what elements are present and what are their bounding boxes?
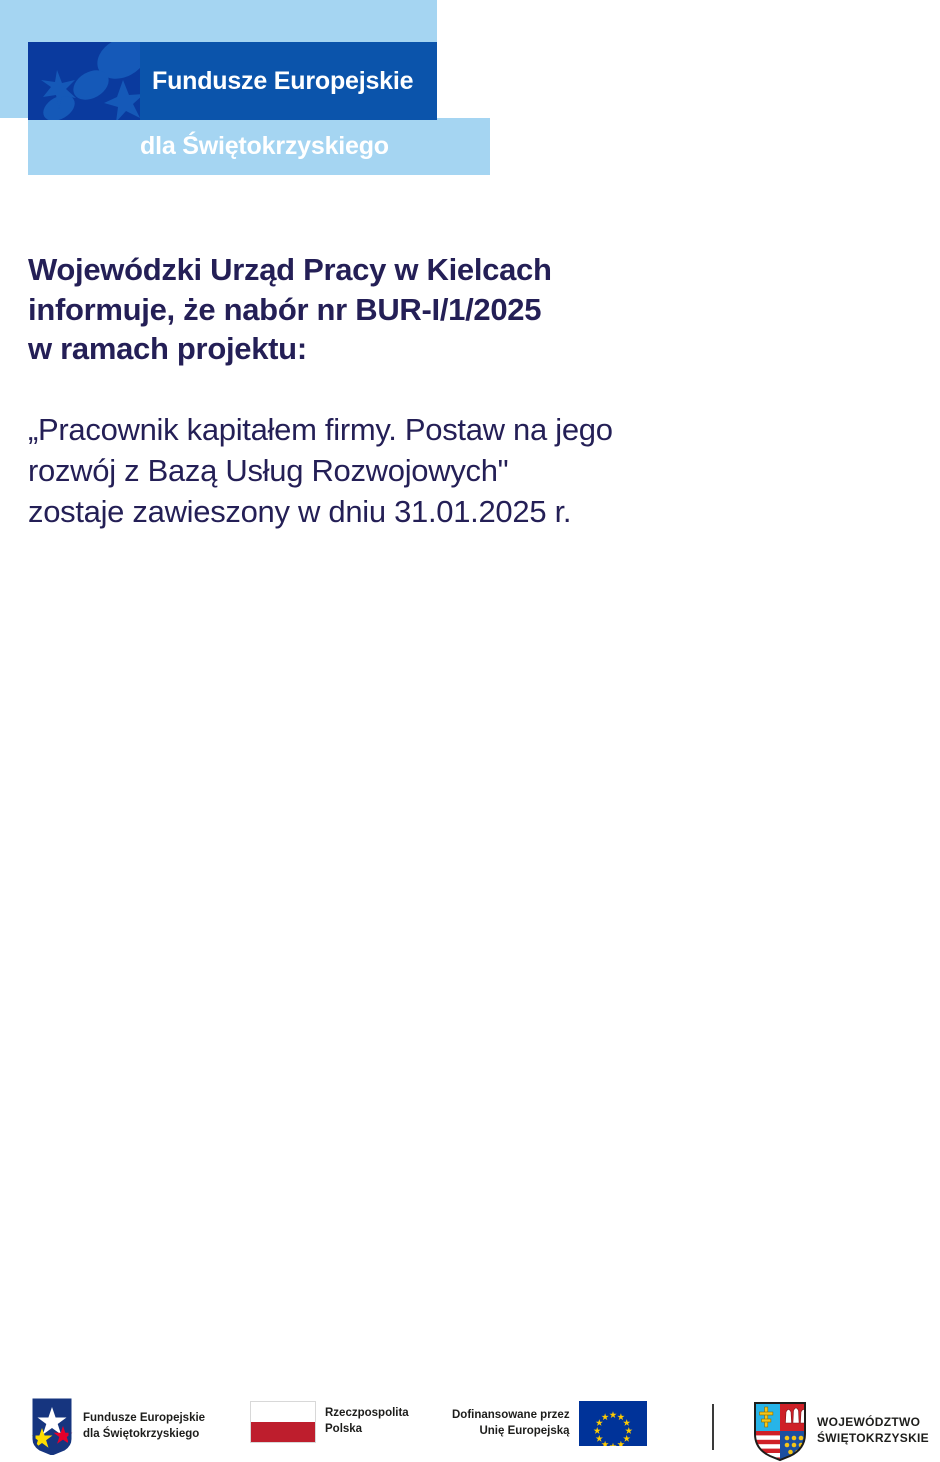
announcement-headline: Wojewódzki Urząd Pracy w Kielcach inform…	[28, 250, 888, 369]
footer-logo-label: Fundusze Europejskie dla Świętokrzyskieg…	[83, 1411, 205, 1442]
eu-funds-tricolor-stars-icon	[30, 1398, 74, 1455]
header-logo-block: Fundusze Europejskie dla Świętokrzyskieg…	[0, 0, 490, 175]
footer-logo-fundusze-europejskie: Fundusze Europejskie dla Świętokrzyskieg…	[30, 1398, 205, 1455]
header-title-plate: Fundusze Europejskie	[140, 42, 437, 120]
announcement-body: „Pracownik kapitałem firmy. Postaw na je…	[28, 369, 888, 533]
footer-logo-label: Rzeczpospolita Polska	[325, 1406, 409, 1437]
footer-logo-wojewodztwo-swietokrzyskie: WOJEWÓDZTWO ŚWIĘTOKRZYSKIE	[752, 1400, 929, 1462]
eu-funds-stars-emblem-icon	[28, 42, 140, 120]
footer-logo-label: WOJEWÓDZTWO ŚWIĘTOKRZYSKIE	[817, 1415, 929, 1446]
swietokrzyskie-coat-of-arms-icon	[752, 1400, 808, 1462]
poland-flag-red-stripe	[251, 1422, 315, 1442]
footer-logo-unia-europejska: Dofinansowane przez Unię Europejską	[452, 1401, 647, 1446]
footer-logo-label: Dofinansowane przez Unię Europejską	[452, 1408, 570, 1439]
poland-flag-icon	[250, 1401, 316, 1443]
european-union-flag-icon	[579, 1401, 647, 1446]
header-brand-title: Fundusze Europejskie	[152, 42, 429, 120]
footer-logo-rzeczpospolita-polska: Rzeczpospolita Polska	[250, 1401, 409, 1443]
main-content: Wojewódzki Urząd Pracy w Kielcach inform…	[28, 250, 888, 533]
footer-divider	[712, 1404, 714, 1450]
header-brand-subtitle: dla Świętokrzyskiego	[140, 118, 490, 175]
footer-logo-bar: Fundusze Europejskie dla Świętokrzyskieg…	[0, 688, 940, 788]
poland-flag-white-stripe	[251, 1402, 315, 1422]
